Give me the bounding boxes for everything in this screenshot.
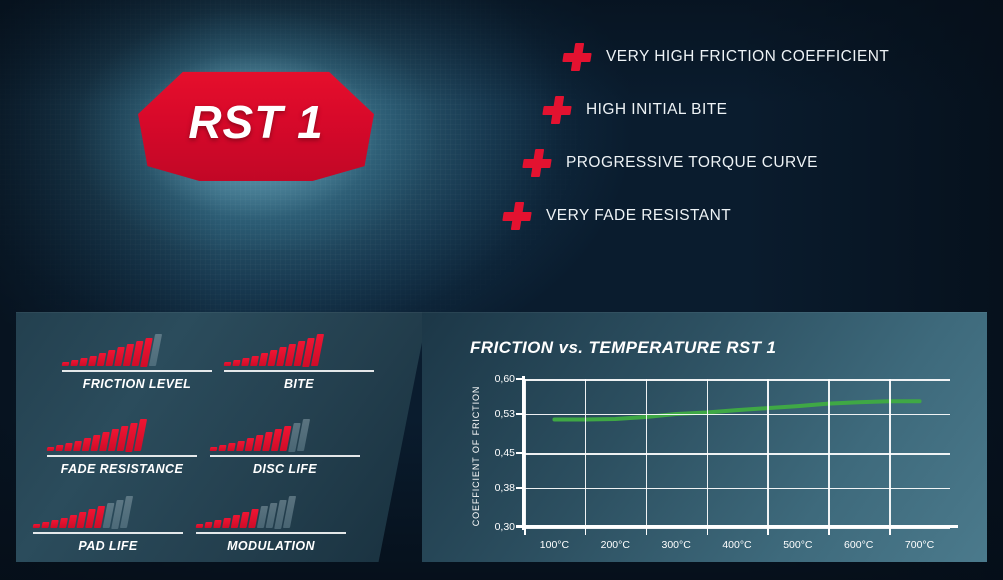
rating-bar bbox=[59, 518, 68, 528]
rating-label: PAD LIFE bbox=[33, 539, 183, 553]
rating-bars bbox=[224, 332, 374, 366]
rating-rule bbox=[196, 532, 346, 534]
y-tick-label: 0,45 bbox=[495, 447, 515, 459]
rating-bar bbox=[227, 443, 235, 451]
rating-bars bbox=[33, 494, 183, 528]
x-tick-mark bbox=[828, 527, 830, 535]
x-tick-label: 300°C bbox=[661, 539, 690, 551]
rating-rule bbox=[62, 370, 212, 372]
plus-icon bbox=[522, 148, 552, 178]
rating-bars bbox=[62, 332, 212, 366]
rating-bar bbox=[222, 518, 231, 528]
rating-bar bbox=[210, 447, 218, 451]
rating-gauge: FRICTION LEVEL bbox=[62, 332, 212, 391]
rating-label: BITE bbox=[224, 377, 374, 391]
y-tick-mark bbox=[516, 413, 523, 415]
feature-item: PROGRESSIVE TORQUE CURVE bbox=[500, 136, 980, 189]
plus-icon bbox=[562, 42, 592, 72]
x-tick-label: 100°C bbox=[540, 539, 569, 551]
x-tick-mark bbox=[646, 527, 648, 535]
product-logo: RST 1 bbox=[138, 62, 374, 186]
rating-gauge: PAD LIFE bbox=[33, 494, 183, 553]
x-gridline bbox=[585, 379, 587, 527]
rating-rule bbox=[210, 455, 360, 457]
rating-bar bbox=[55, 445, 63, 451]
rating-bar bbox=[204, 522, 212, 528]
feature-label: HIGH INITIAL BITE bbox=[586, 101, 727, 119]
rating-label: FRICTION LEVEL bbox=[62, 377, 212, 391]
y-tick-label: 0,60 bbox=[495, 373, 515, 385]
y-tick-mark bbox=[516, 452, 523, 454]
y-tick-label: 0,38 bbox=[495, 482, 515, 494]
y-tick-mark bbox=[516, 526, 523, 528]
rating-rule bbox=[224, 370, 374, 372]
x-tick-mark bbox=[524, 527, 526, 535]
rating-gauge: FADE RESISTANCE bbox=[47, 417, 197, 476]
rating-bars bbox=[210, 417, 360, 451]
x-tick-label: 500°C bbox=[783, 539, 812, 551]
y-gridline bbox=[524, 453, 950, 455]
feature-item: HIGH INITIAL BITE bbox=[500, 83, 980, 136]
rating-gauge: BITE bbox=[224, 332, 374, 391]
feature-item: VERY FADE RESISTANT bbox=[500, 189, 980, 242]
rating-bar bbox=[64, 443, 72, 451]
rating-rule bbox=[47, 455, 197, 457]
y-gridline bbox=[524, 414, 950, 416]
plus-icon bbox=[502, 201, 532, 231]
rating-label: FADE RESISTANCE bbox=[47, 462, 197, 476]
x-gridline bbox=[707, 379, 709, 527]
rating-bar bbox=[50, 520, 58, 528]
y-gridline bbox=[524, 527, 950, 529]
x-gridline bbox=[889, 379, 891, 527]
rating-bar bbox=[47, 447, 55, 451]
rating-label: DISC LIFE bbox=[210, 462, 360, 476]
rating-bar bbox=[196, 524, 204, 528]
rating-bar bbox=[232, 360, 240, 366]
rating-rule bbox=[33, 532, 183, 534]
x-gridline bbox=[524, 379, 526, 527]
y-gridline bbox=[524, 488, 950, 490]
rating-bars bbox=[47, 417, 197, 451]
x-tick-mark bbox=[889, 527, 891, 535]
rating-bar bbox=[218, 445, 226, 451]
rating-bar bbox=[250, 356, 259, 366]
y-axis-title: COEFFICIENT OF FRICTION bbox=[471, 383, 485, 529]
y-tick-mark bbox=[516, 378, 523, 380]
y-tick-label: 0,53 bbox=[495, 408, 515, 420]
rating-bar bbox=[62, 362, 70, 366]
rating-gauge: DISC LIFE bbox=[210, 417, 360, 476]
rating-bar bbox=[213, 520, 221, 528]
x-tick-mark bbox=[767, 527, 769, 535]
feature-label: VERY HIGH FRICTION COEFFICIENT bbox=[606, 48, 889, 66]
y-tick-mark bbox=[516, 487, 523, 489]
rating-gauge: MODULATION bbox=[196, 494, 346, 553]
feature-list: VERY HIGH FRICTION COEFFICIENTHIGH INITI… bbox=[500, 30, 980, 242]
x-tick-mark bbox=[585, 527, 587, 535]
x-tick-mark bbox=[707, 527, 709, 535]
x-tick-label: 700°C bbox=[905, 539, 934, 551]
feature-label: PROGRESSIVE TORQUE CURVE bbox=[566, 154, 818, 172]
rating-bar bbox=[236, 441, 245, 451]
x-tick-label: 600°C bbox=[844, 539, 873, 551]
feature-item: VERY HIGH FRICTION COEFFICIENT bbox=[500, 30, 980, 83]
y-gridline bbox=[524, 379, 950, 381]
rating-bar bbox=[224, 362, 232, 366]
x-tick-label: 200°C bbox=[601, 539, 630, 551]
rating-label: MODULATION bbox=[196, 539, 346, 553]
rating-bar bbox=[241, 358, 249, 366]
rating-bar bbox=[73, 441, 82, 451]
rating-bar bbox=[33, 524, 41, 528]
feature-label: VERY FADE RESISTANT bbox=[546, 207, 731, 225]
x-gridline bbox=[767, 379, 769, 527]
logo-label: RST 1 bbox=[138, 62, 374, 186]
rating-bar bbox=[41, 522, 49, 528]
chart-title: FRICTION vs. TEMPERATURE RST 1 bbox=[470, 338, 776, 358]
x-tick-label: 400°C bbox=[722, 539, 751, 551]
x-gridline bbox=[646, 379, 648, 527]
y-tick-label: 0,30 bbox=[495, 521, 515, 533]
rating-bar bbox=[70, 360, 78, 366]
chart-plot-area: 0,600,530,450,380,30100°C200°C300°C400°C… bbox=[524, 379, 950, 527]
rating-bar bbox=[88, 356, 97, 366]
rating-bars bbox=[196, 494, 346, 528]
x-gridline bbox=[828, 379, 830, 527]
rating-bar bbox=[79, 358, 87, 366]
plus-icon bbox=[542, 95, 572, 125]
